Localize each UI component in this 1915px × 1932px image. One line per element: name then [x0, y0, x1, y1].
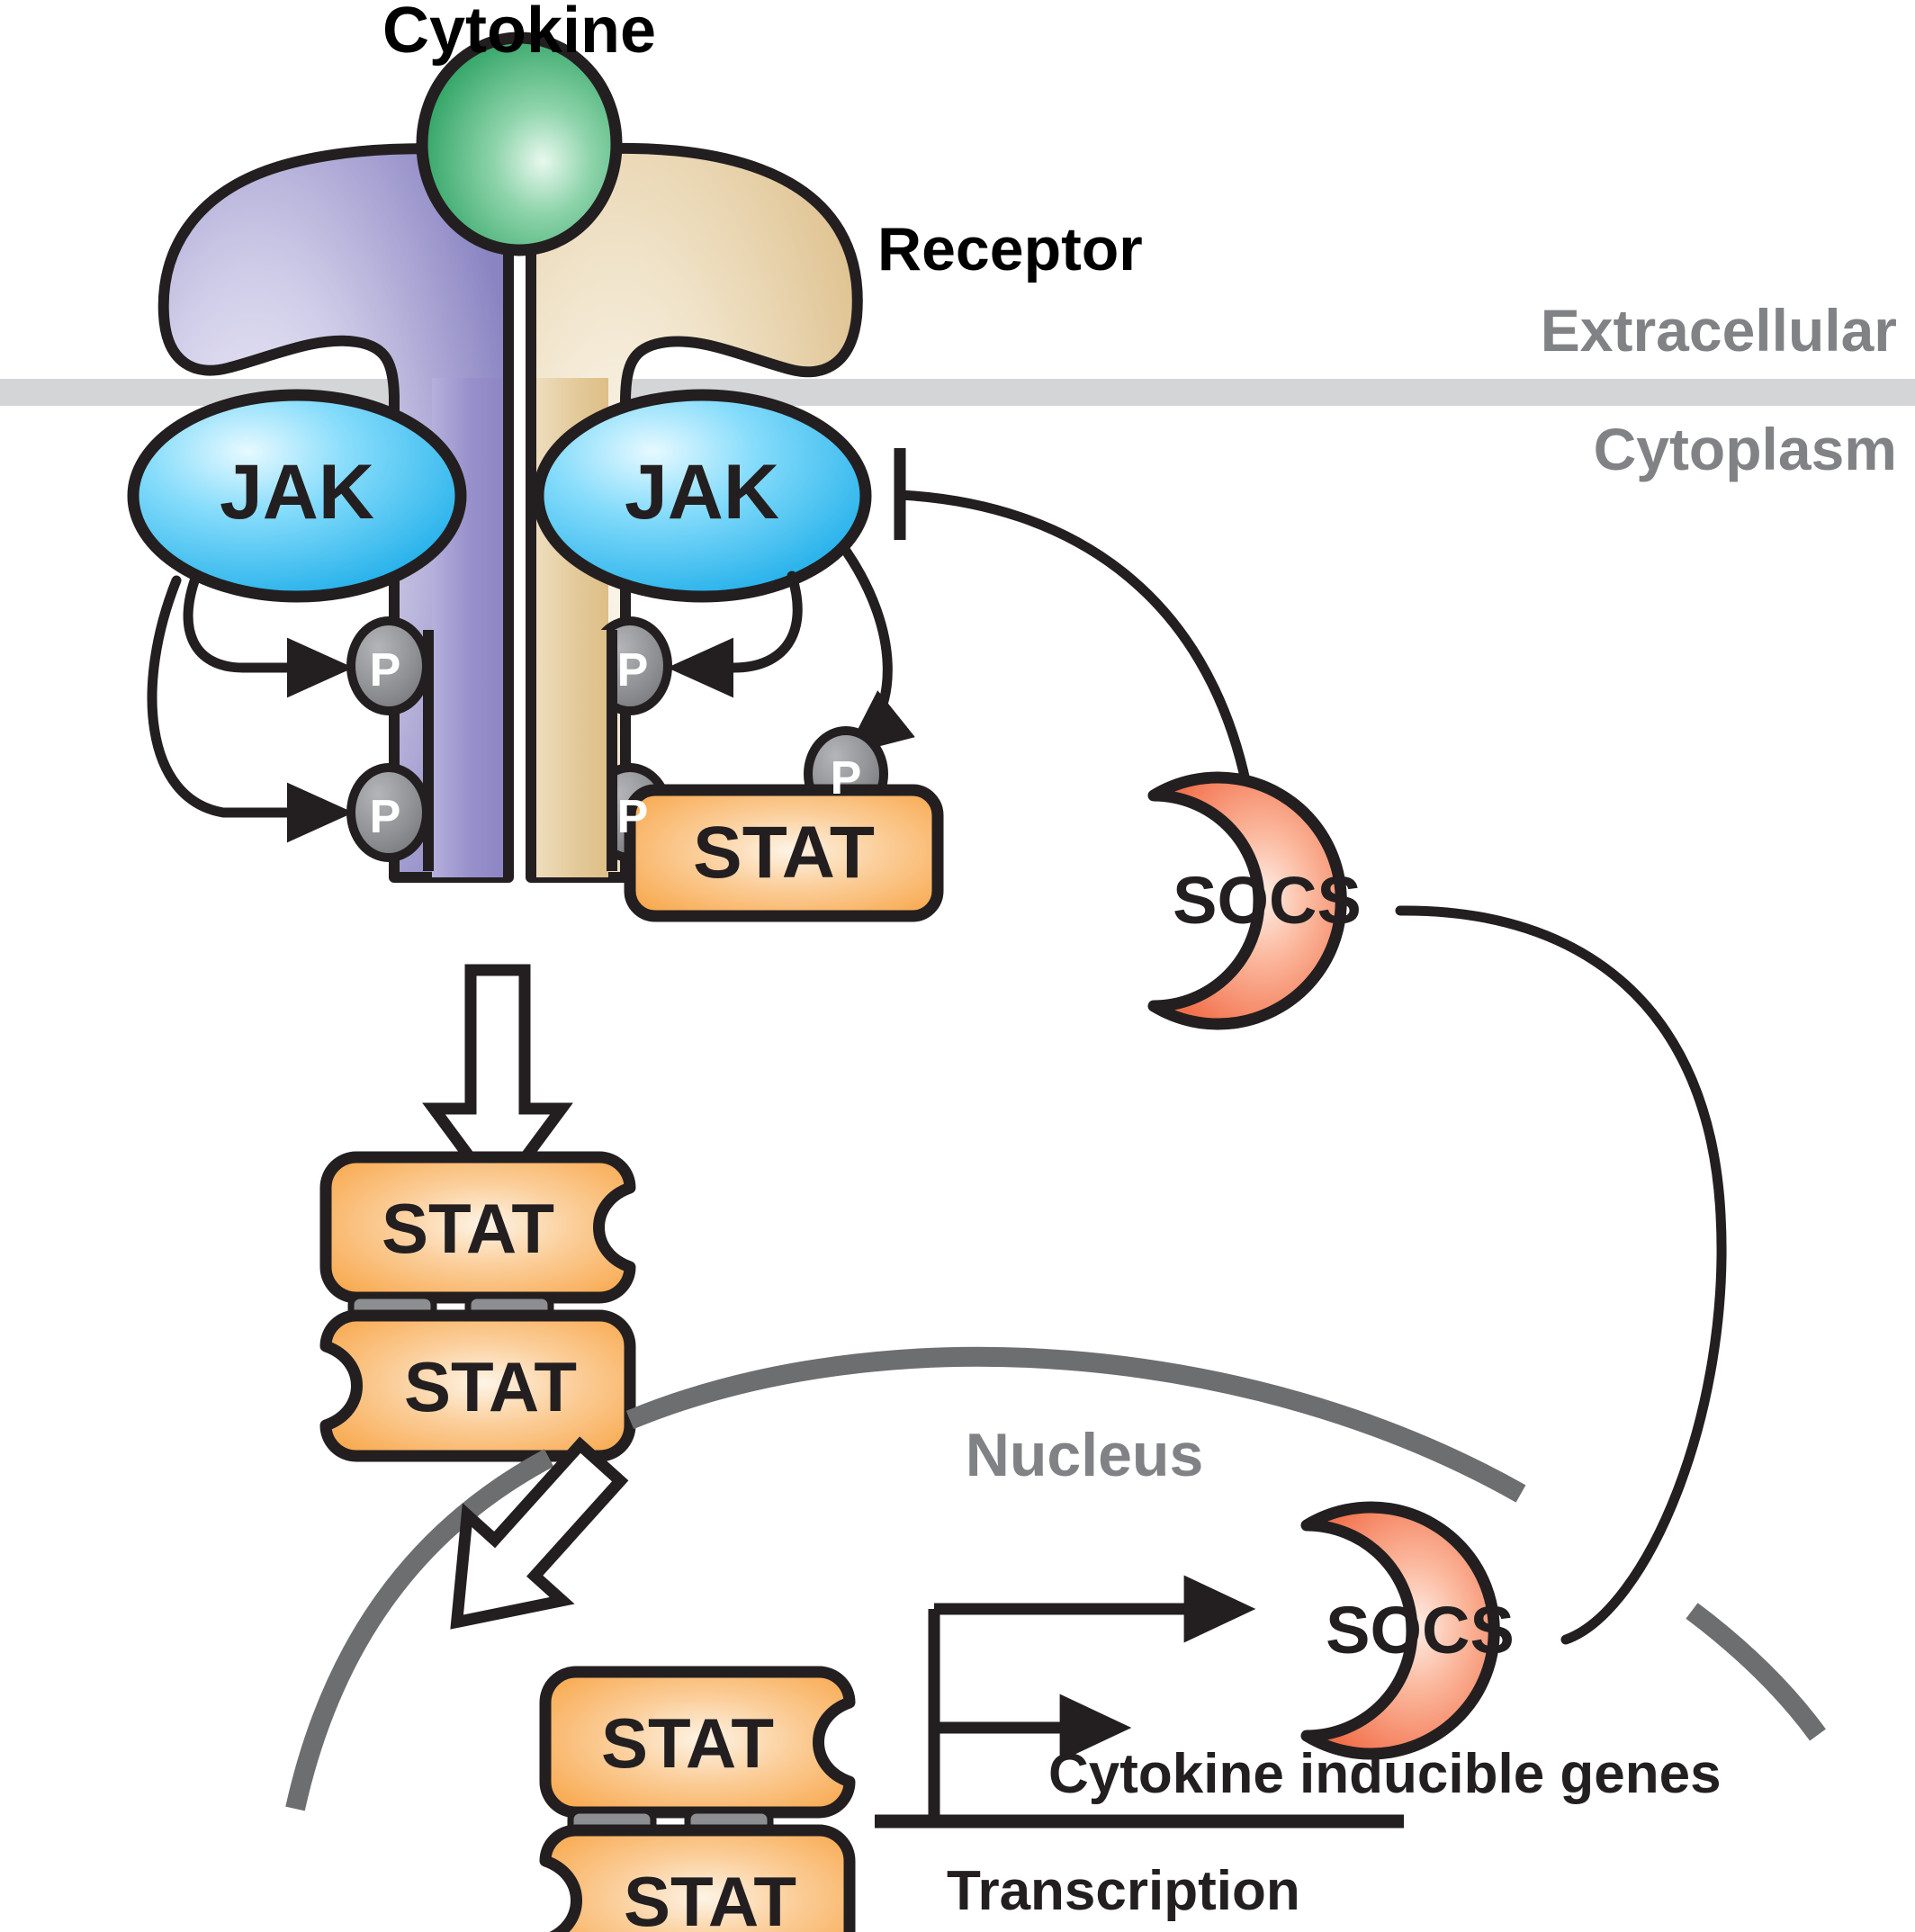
nuclear-envelope-far-right-segment: [1692, 1611, 1818, 1735]
socs-inhibits-jak-edge: [900, 448, 1246, 785]
label-extracellular: Extracellular: [1541, 297, 1897, 364]
label-phospho-right-upper: P: [617, 644, 649, 696]
cytokine-ligand[interactable]: [422, 38, 616, 250]
label-stat-dimer-cyto-top: STAT: [382, 1189, 554, 1268]
label-receptor: Receptor: [877, 215, 1143, 283]
pathway-diagram-canvas: Cytokine Receptor Extracellular Cytoplas…: [0, 0, 1915, 1932]
label-nucleus: Nucleus: [966, 1421, 1204, 1489]
nuclear-envelope-left-segment: [295, 1458, 549, 1809]
label-jak-left: JAK: [220, 449, 374, 535]
label-cytokine-inducible-genes: Cytokine inducible genes: [1048, 1743, 1722, 1805]
label-cytokine: Cytokine: [382, 0, 656, 67]
pathway-svg: Cytokine Receptor Extracellular Cytoplas…: [0, 0, 1915, 1932]
label-phospho-left-lower: P: [370, 791, 401, 843]
label-stat-dimer-nuc-top: STAT: [601, 1703, 774, 1783]
label-phospho-right-lower: P: [617, 791, 649, 843]
label-stat-dimer-nuc-bottom: STAT: [624, 1862, 796, 1932]
label-jak-right: JAK: [625, 449, 779, 535]
label-transcription: Transcription: [947, 1860, 1300, 1922]
label-cytoplasm: Cytoplasm: [1594, 416, 1897, 482]
label-stat-membrane: STAT: [693, 812, 875, 894]
receptor-stem-overlay: [428, 630, 612, 871]
arrow-jakL-to-pL-lower: [152, 580, 340, 813]
label-stat-dimer-cyto-bottom: STAT: [404, 1347, 577, 1426]
label-socs-cytoplasm: SOCS: [1173, 863, 1362, 938]
label-phospho-left-upper: P: [370, 644, 401, 696]
arrow-jakR-to-pstat: [846, 551, 887, 747]
label-phospho-stat: P: [831, 752, 862, 804]
inhibition-curve: [900, 495, 1246, 785]
label-socs-nucleus: SOCS: [1326, 1593, 1515, 1667]
